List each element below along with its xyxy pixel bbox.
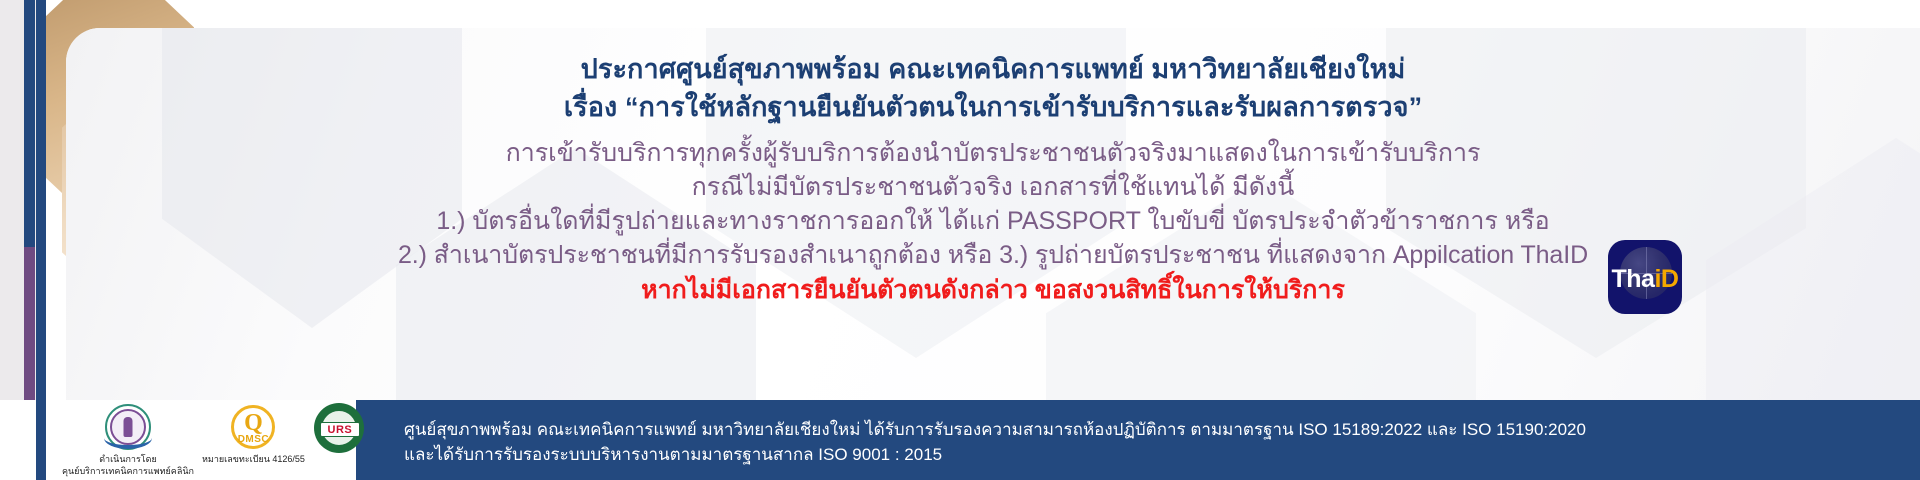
thaid-wordmark: ThaiD <box>1608 266 1682 292</box>
thaid-text-d: D <box>1661 265 1679 293</box>
left-rail-navy-segment <box>24 0 35 247</box>
certification-logos: ดำเนินการโดย คุนย์บริการเทคนิคการแพทย์คล… <box>62 402 352 480</box>
dmsc-registration-number: หมายเลขทะเบียน 4126/55 <box>202 454 305 465</box>
body-line-2: กรณีไม่มีบัตรประชาชนตัวจริง เอกสารที่ใช้… <box>66 170 1920 204</box>
clinic-seal-cell: ดำเนินการโดย คุนย์บริการเทคนิคการแพทย์คล… <box>62 402 194 476</box>
clinic-seal-caption-2: คุนย์บริการเทคนิคการแพทย์คลินิก <box>62 466 194 476</box>
footer-line-2: และได้รับการรับรองระบบบริหารงานตามมาตรฐา… <box>404 442 1586 467</box>
title-body-spacer <box>66 126 1920 136</box>
footer: ศูนย์สุขภาพพร้อม คณะเทคนิคการแพทย์ มหาวิ… <box>0 400 1920 480</box>
q-letter: Q <box>228 411 278 435</box>
thaid-text-tha: Tha <box>1612 265 1655 293</box>
body-line-1: การเข้ารับบริการทุกครั้งผู้รับบริการต้อง… <box>66 136 1920 170</box>
footer-navy-bar: ศูนย์สุขภาพพร้อม คณะเทคนิคการแพทย์ มหาวิ… <box>356 400 1920 480</box>
footer-left-navy-stripe <box>36 400 46 480</box>
footer-line-1: ศูนย์สุขภาพพร้อม คณะเทคนิคการแพทย์ มหาวิ… <box>404 417 1586 442</box>
announcement-banner: ประกาศศูนย์สุขภาพพร้อม คณะเทคนิคการแพทย์… <box>0 0 1920 480</box>
urs-iso9001-seal-icon: URS <box>313 402 365 454</box>
announcement-content: ประกาศศูนย์สุขภาพพร้อม คณะเทคนิคการแพทย์… <box>66 28 1920 400</box>
urs-label: URS <box>320 422 360 437</box>
dmsc-quality-seal-icon: Q DMSC <box>228 402 278 452</box>
announcement-title-line-2: เรื่อง “การใช้หลักฐานยืนยันตัวตนในการเข้… <box>66 88 1920 126</box>
thaid-app-icon: ThaiD <box>1608 240 1682 314</box>
footer-text-block: ศูนย์สุขภาพพร้อม คณะเทคนิคการแพทย์ มหาวิ… <box>404 417 1586 467</box>
clinic-seal-icon <box>103 402 153 452</box>
seal-swoosh <box>104 427 152 449</box>
clinic-seal-caption-1: ดำเนินการโดย <box>99 454 157 464</box>
dmsc-label: DMSC <box>228 434 278 445</box>
body-line-3: 1.) บัตรอื่นใดที่มีรูปถ่ายและทางราชการออ… <box>66 204 1920 238</box>
dmsc-seal-cell: Q DMSC หมายเลขทะเบียน 4126/55 <box>202 402 305 465</box>
announcement-title-line-1: ประกาศศูนย์สุขภาพพร้อม คณะเทคนิคการแพทย์… <box>66 50 1920 88</box>
urs-seal-cell: URS <box>313 402 365 454</box>
